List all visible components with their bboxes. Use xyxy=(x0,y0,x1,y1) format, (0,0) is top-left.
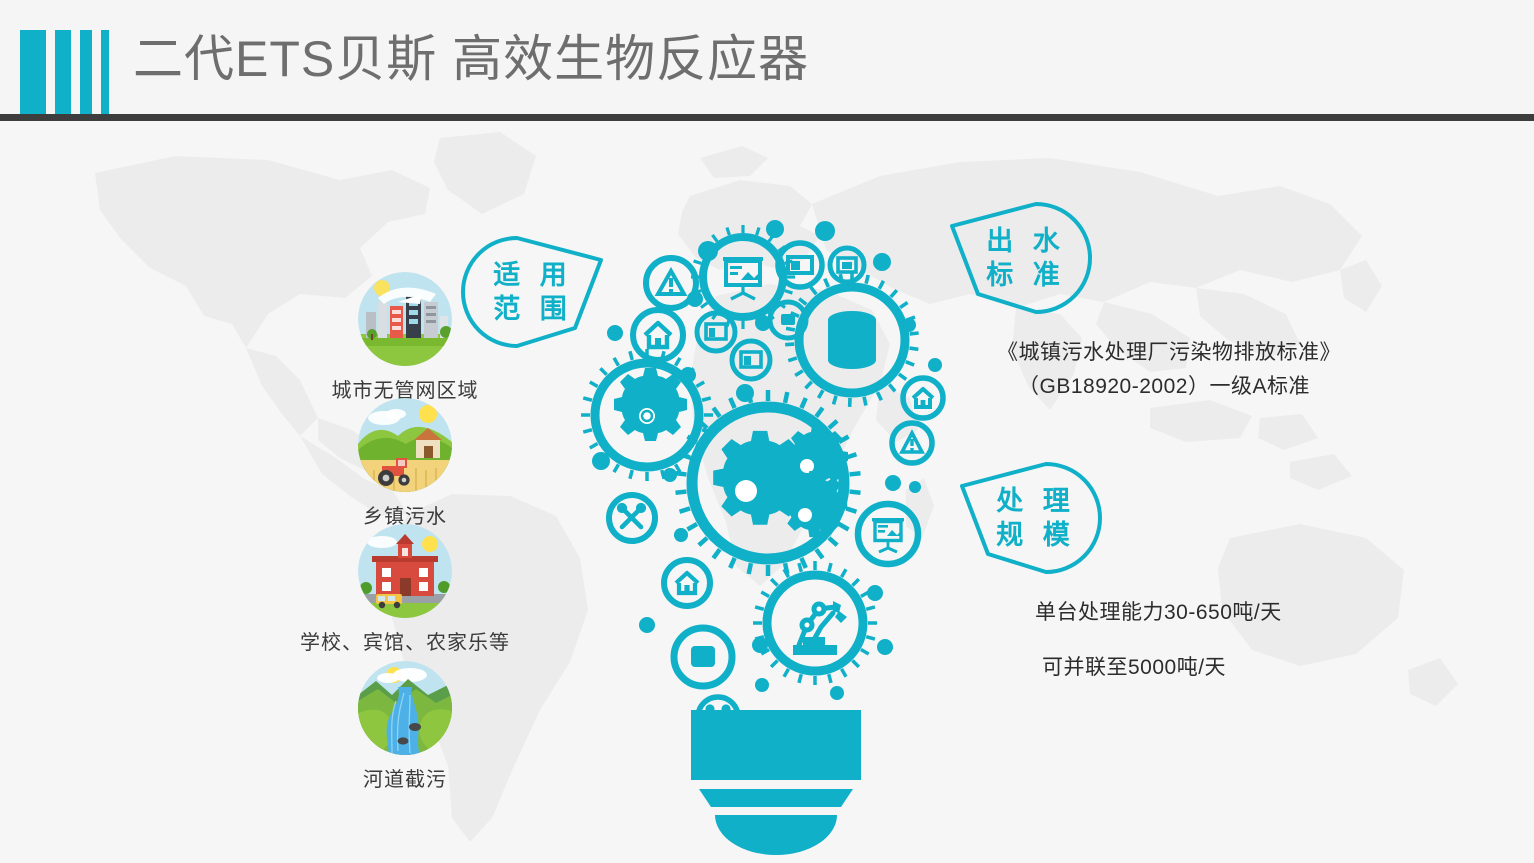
farm-tractor-icon xyxy=(358,398,452,492)
database-icon xyxy=(828,311,876,369)
scope-item-school[interactable]: 学校、宾馆、农家乐等 xyxy=(290,524,520,655)
browser-window-icon xyxy=(830,248,864,282)
lightbulb-of-gears-graphic xyxy=(575,215,975,855)
callout-line-2: 规 模 xyxy=(990,518,1076,552)
rounded-square-icon xyxy=(674,628,732,686)
presentation-board-icon xyxy=(723,257,763,299)
capacity-line-2: 可并联至5000吨/天 xyxy=(1042,651,1226,681)
gear-icon xyxy=(713,425,848,537)
callout-line-2: 范 围 xyxy=(487,292,573,326)
effluent-standard-line-2: （GB18920-2002）一级A标准 xyxy=(1018,370,1310,400)
callout-text: 处 理 规 模 xyxy=(958,458,1108,578)
four-bar-logo xyxy=(20,30,118,115)
header-bar: 二代ETS贝斯 高效生物反应器 xyxy=(0,0,1534,114)
scope-item-township[interactable]: 乡镇污水 xyxy=(290,398,520,529)
callout-line-2: 标 准 xyxy=(980,258,1066,292)
city-skyline-icon xyxy=(358,272,452,366)
browser-window-icon xyxy=(697,313,735,351)
callout-line-1: 适 用 xyxy=(487,258,573,292)
slide-root: 二代ETS贝斯 高效生物反应器 xyxy=(0,0,1534,863)
browser-window-icon xyxy=(732,341,770,379)
capacity-line-1: 单台处理能力30-650吨/天 xyxy=(1035,596,1282,626)
river-valley-icon xyxy=(358,661,452,755)
callout-line-1: 处 理 xyxy=(990,484,1076,518)
presentation-board-icon xyxy=(858,504,918,564)
tools-cross-icon xyxy=(609,495,655,541)
gear-icon xyxy=(614,368,687,441)
bulb-base xyxy=(691,710,861,855)
page-title: 二代ETS贝斯 高效生物反应器 xyxy=(133,28,809,90)
warning-triangle-icon xyxy=(892,423,932,463)
home-icon xyxy=(903,378,943,418)
header-divider xyxy=(0,114,1534,121)
scope-item-river[interactable]: 河道截污 xyxy=(290,661,520,792)
callout-treatment-capacity[interactable]: 处 理 规 模 xyxy=(958,458,1108,578)
callout-line-1: 出 水 xyxy=(980,224,1066,258)
scope-item-label: 学校、宾馆、农家乐等 xyxy=(290,626,520,655)
school-building-icon xyxy=(358,524,452,618)
home-icon xyxy=(664,560,710,606)
scope-item-label: 河道截污 xyxy=(290,763,520,792)
home-icon xyxy=(633,310,683,360)
effluent-standard-line-1: 《城镇污水处理厂污染物排放标准》 xyxy=(997,336,1341,366)
